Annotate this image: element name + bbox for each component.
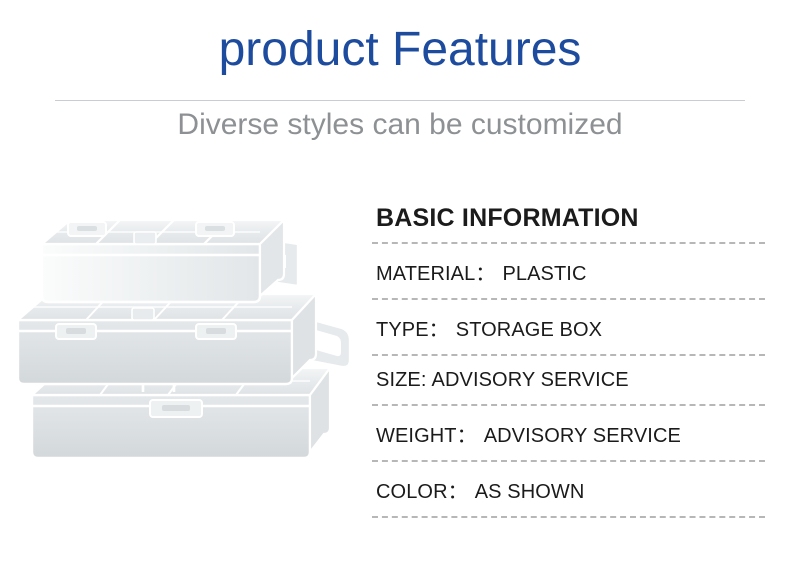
spec-value-material: PLASTIC xyxy=(495,263,586,286)
spec-row-color: COLOR： AS SHOWN xyxy=(372,462,766,516)
top-box-front xyxy=(42,244,260,302)
middle-box-center-stub xyxy=(132,308,154,320)
page-header: product Features xyxy=(0,0,800,76)
main-content: BASIC INFORMATION MATERIAL： PLASTIC TYPE… xyxy=(0,175,800,515)
spec-label-material: MATERIAL： xyxy=(376,257,495,286)
top-box-center-stub xyxy=(134,232,156,244)
spec-value-weight: ADVISORY SERVICE xyxy=(477,425,681,448)
top-storage-box xyxy=(42,220,298,302)
product-image xyxy=(10,200,360,500)
spec-panel-heading: BASIC INFORMATION xyxy=(372,200,766,242)
page-title: product Features xyxy=(0,0,800,76)
bottom-box-latch xyxy=(150,400,202,417)
header-divider xyxy=(55,100,745,101)
spec-value-color: AS SHOWN xyxy=(468,481,585,504)
basic-information-panel: BASIC INFORMATION MATERIAL： PLASTIC TYPE… xyxy=(372,200,766,518)
spec-label-weight: WEIGHT： xyxy=(376,419,477,448)
spec-row-size: SIZE: ADVISORY SERVICE xyxy=(372,356,766,404)
spec-row-material: MATERIAL： PLASTIC xyxy=(372,244,766,298)
spec-label-type: TYPE： xyxy=(376,313,449,342)
spec-separator xyxy=(372,516,765,518)
spec-label-color: COLOR： xyxy=(376,475,468,504)
spec-row-type: TYPE： STORAGE BOX xyxy=(372,300,766,354)
middle-storage-box xyxy=(18,294,350,384)
spec-row-weight: WEIGHT： ADVISORY SERVICE xyxy=(372,406,766,460)
page-subtitle: Diverse styles can be customized xyxy=(0,106,800,144)
spec-value-size: ADVISORY SERVICE xyxy=(427,369,629,392)
storage-boxes-illustration xyxy=(10,200,360,500)
spec-label-size: SIZE: xyxy=(376,369,427,392)
spec-value-type: STORAGE BOX xyxy=(449,319,602,342)
